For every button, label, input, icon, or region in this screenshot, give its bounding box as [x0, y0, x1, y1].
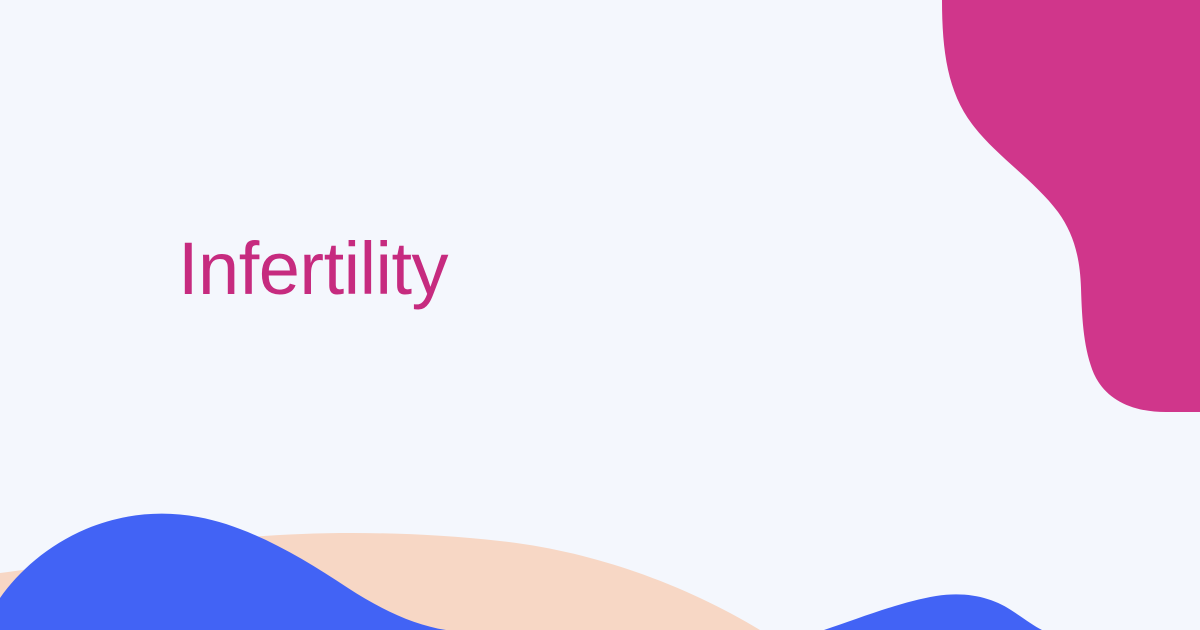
- page-title: Infertility: [178, 232, 448, 306]
- title-layer: Infertility: [0, 0, 1200, 630]
- social-card-canvas: Infertility: [0, 0, 1200, 630]
